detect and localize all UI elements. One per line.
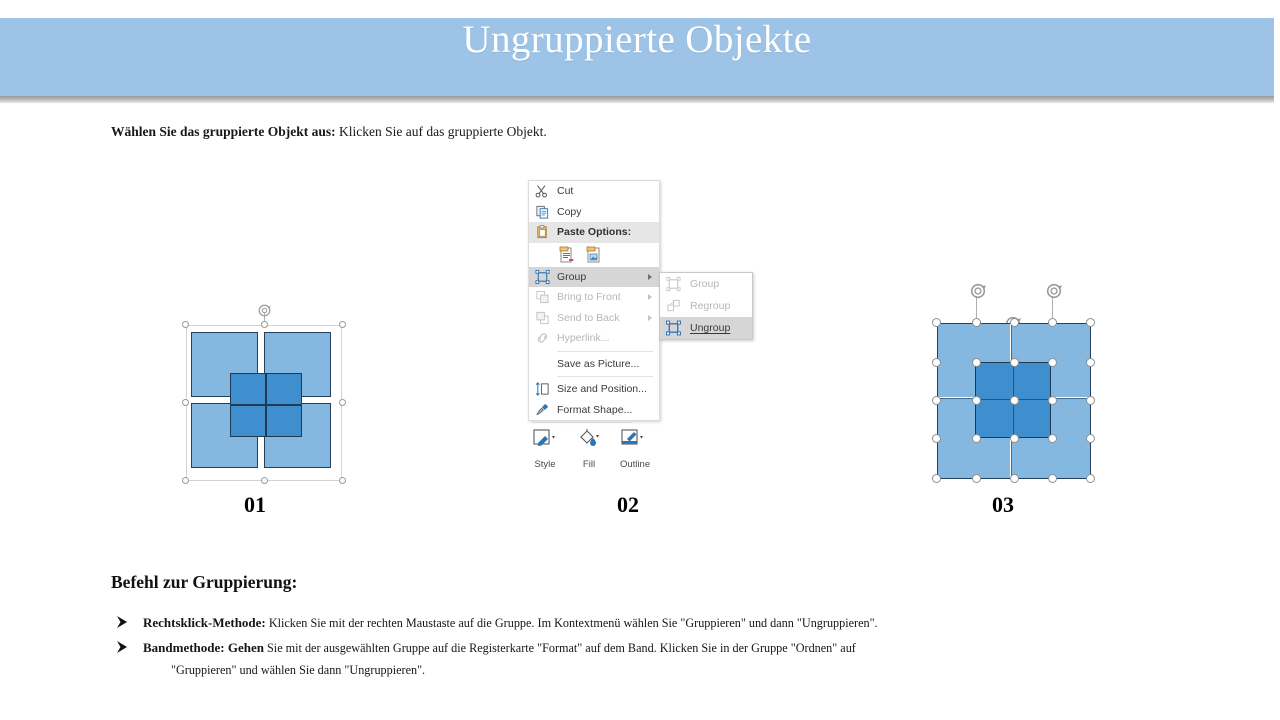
step-label-01: 01 — [215, 492, 295, 518]
intro-paragraph: Wählen Sie das gruppierte Objekt aus: Kl… — [111, 118, 711, 146]
selection-handle[interactable] — [339, 477, 346, 484]
selection-handle[interactable] — [261, 321, 268, 328]
bullet-list: Rechtsklick-Methode: Klicken Sie mit der… — [111, 614, 1011, 690]
shape-style-icon[interactable] — [532, 428, 558, 450]
menu-item-size-and-position[interactable]: Size and Position... — [529, 379, 659, 400]
selection-handle[interactable] — [1010, 396, 1019, 405]
rotate-handle-icon[interactable] — [1045, 282, 1063, 300]
format-shape-icon — [535, 402, 550, 417]
menu-item-label: Bring to Front — [557, 291, 621, 303]
ungroup-icon — [666, 321, 681, 336]
paste-options-row[interactable] — [529, 243, 659, 267]
shape-square-inner — [230, 373, 266, 405]
arrow-bullet-icon — [115, 615, 131, 629]
menu-item-format-shape[interactable]: Format Shape... — [529, 400, 659, 421]
selection-handle[interactable] — [972, 358, 981, 367]
submenu-item-label: Group — [690, 278, 719, 290]
send-to-back-icon — [535, 310, 550, 325]
figure-ungrouped-objects[interactable] — [934, 320, 1094, 482]
selection-handle[interactable] — [932, 474, 941, 483]
menu-item-send-to-back[interactable]: Send to Back — [529, 308, 659, 329]
selection-handle[interactable] — [1086, 358, 1095, 367]
list-item: Rechtsklick-Methode: Klicken Sie mit der… — [111, 614, 1011, 632]
selection-handle[interactable] — [1010, 358, 1019, 367]
group-icon — [535, 269, 550, 284]
menu-item-group[interactable]: Group — [529, 267, 659, 288]
selection-handle[interactable] — [1086, 318, 1095, 327]
mini-toolbar-tools: Style Fill Outline — [528, 428, 638, 470]
menu-item-label: Format Shape... — [557, 404, 632, 416]
paste-keep-source-formatting-icon[interactable] — [559, 246, 575, 264]
submenu-item-regroup[interactable]: Regroup — [660, 295, 752, 317]
fill-bucket-icon[interactable] — [576, 428, 602, 450]
rotate-handle-icon[interactable] — [969, 282, 987, 300]
selection-handle[interactable] — [1048, 474, 1057, 483]
menu-item-label: Copy — [557, 206, 582, 218]
selection-handle[interactable] — [932, 434, 941, 443]
selection-handle[interactable] — [1048, 318, 1057, 327]
chevron-right-icon — [648, 274, 652, 280]
selection-handle[interactable] — [932, 396, 941, 405]
shape-grid — [191, 332, 337, 474]
menu-item-label: Cut — [557, 185, 573, 197]
paste-picture-icon[interactable] — [586, 246, 602, 264]
mini-tool-fill[interactable]: Fill — [576, 428, 602, 470]
shape-inner-group — [230, 373, 302, 437]
selection-handle[interactable] — [1048, 396, 1057, 405]
menu-item-label: Group — [557, 271, 586, 283]
shape-square-inner — [266, 405, 302, 437]
context-menu[interactable]: Cut Copy Paste Options: — [528, 180, 660, 421]
section-heading: Befehl zur Gruppierung: — [111, 572, 297, 593]
mini-toolbar-separator — [532, 422, 632, 423]
chevron-right-icon — [648, 294, 652, 300]
selection-handle[interactable] — [182, 399, 189, 406]
menu-item-label: Paste Options: — [557, 226, 631, 238]
selection-handle[interactable] — [932, 358, 941, 367]
mini-tool-label: Outline — [620, 459, 646, 470]
group-submenu[interactable]: Group Regroup Ungroup — [659, 272, 753, 340]
mini-tool-outline[interactable]: Outline — [620, 428, 646, 470]
selection-handle[interactable] — [972, 474, 981, 483]
selection-handle[interactable] — [932, 318, 941, 327]
selection-handle[interactable] — [1086, 434, 1095, 443]
selection-handle[interactable] — [1010, 318, 1019, 327]
selection-handle[interactable] — [972, 318, 981, 327]
slide-canvas: Ungruppierte Objekte Wählen Sie das grup… — [0, 0, 1280, 720]
shape-outline-icon[interactable] — [620, 428, 646, 450]
menu-item-copy[interactable]: Copy — [529, 202, 659, 223]
page-title: Ungruppierte Objekte — [0, 0, 1274, 78]
mini-tool-label: Fill — [576, 459, 602, 470]
title-banner-shadow — [0, 96, 1274, 103]
selection-handle[interactable] — [261, 477, 268, 484]
selection-handle[interactable] — [182, 321, 189, 328]
selection-handle[interactable] — [1086, 474, 1095, 483]
list-item-continuation: "Gruppieren" und wählen Sie dann "Ungrup… — [143, 657, 1011, 683]
mini-tool-label: Style — [532, 459, 558, 470]
list-item-bold: Bandmethode: Gehen — [143, 640, 264, 655]
menu-item-cut[interactable]: Cut — [529, 181, 659, 202]
selection-handle[interactable] — [1048, 358, 1057, 367]
shape-square-inner — [266, 373, 302, 405]
submenu-item-label: Regroup — [690, 300, 730, 312]
step-label-02: 02 — [588, 492, 668, 518]
menu-item-hyperlink[interactable]: Hyperlink... — [529, 328, 659, 349]
selection-handle[interactable] — [1010, 434, 1019, 443]
list-item-text: Sie mit der ausgewählten Gruppe auf die … — [264, 641, 856, 655]
selection-handle[interactable] — [1010, 474, 1019, 483]
menu-item-save-as-picture[interactable]: Save as Picture... — [529, 354, 659, 375]
menu-item-label: Save as Picture... — [557, 358, 639, 370]
step-label-03: 03 — [963, 492, 1043, 518]
arrow-bullet-icon — [115, 640, 131, 654]
menu-item-paste-options: Paste Options: — [529, 222, 659, 243]
intro-rest: Klicken Sie auf das gruppierte Objekt. — [336, 124, 547, 139]
regroup-icon — [666, 299, 681, 314]
intro-lead: Wählen Sie das gruppierte Objekt aus: — [111, 124, 336, 139]
chevron-right-icon — [648, 315, 652, 321]
hyperlink-icon — [535, 331, 550, 346]
shape-square-inner — [230, 405, 266, 437]
selection-handle[interactable] — [972, 434, 981, 443]
submenu-item-ungroup[interactable]: Ungroup — [660, 317, 752, 339]
menu-item-label: Hyperlink... — [557, 332, 610, 344]
selection-handle[interactable] — [339, 321, 346, 328]
list-item-text: Klicken Sie mit der rechten Maustaste au… — [266, 616, 878, 630]
bring-to-front-icon — [535, 290, 550, 305]
list-item-bold: Rechtsklick-Methode: — [143, 615, 266, 630]
menu-item-label: Send to Back — [557, 312, 619, 324]
menu-item-bring-to-front[interactable]: Bring to Front — [529, 287, 659, 308]
copy-icon — [535, 204, 550, 219]
menu-separator — [557, 376, 653, 377]
selection-handle[interactable] — [972, 396, 981, 405]
list-item: Bandmethode: Gehen Sie mit der ausgewähl… — [111, 639, 1011, 683]
size-position-icon — [535, 382, 550, 397]
menu-item-label: Size and Position... — [557, 383, 647, 395]
mini-tool-style[interactable]: Style — [532, 428, 558, 470]
submenu-item-label: Ungroup — [690, 322, 730, 334]
group-icon — [666, 277, 681, 292]
scissors-icon — [535, 184, 550, 199]
rotate-handle-icon[interactable] — [257, 303, 272, 318]
selection-handle[interactable] — [182, 477, 189, 484]
selection-handle[interactable] — [339, 399, 346, 406]
selection-handle[interactable] — [1048, 434, 1057, 443]
menu-separator — [557, 351, 653, 352]
submenu-item-group[interactable]: Group — [660, 273, 752, 295]
clipboard-icon — [535, 225, 550, 240]
selection-handle[interactable] — [1086, 396, 1095, 405]
figure-grouped-object[interactable] — [186, 325, 342, 481]
mini-toolbar[interactable]: Style Fill Outline — [528, 428, 638, 470]
